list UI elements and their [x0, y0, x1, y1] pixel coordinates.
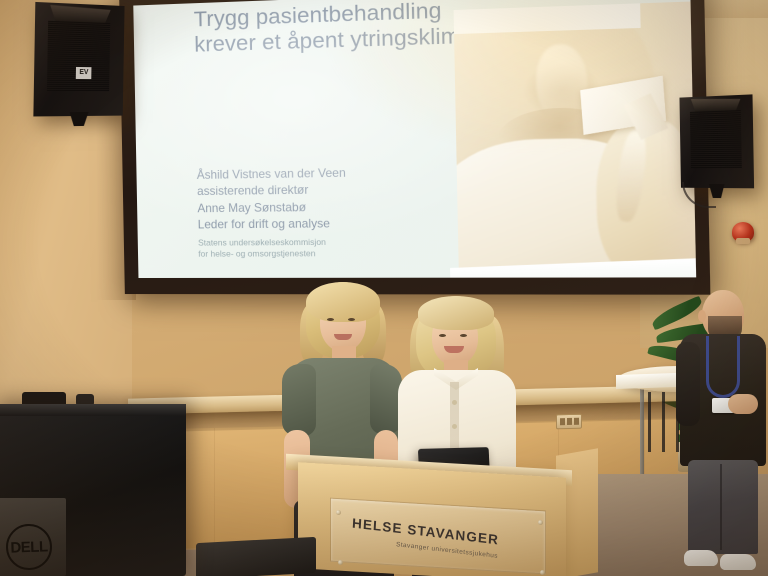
speaker-grille — [47, 21, 111, 92]
ear — [698, 310, 706, 322]
speaker-grille — [690, 110, 742, 168]
sneaker-right — [720, 554, 756, 570]
wall-speaker-right — [679, 94, 754, 188]
sneaker-left — [684, 550, 718, 566]
plaque-screw — [338, 560, 343, 565]
eye — [348, 318, 355, 321]
presentation-slide: Trygg pasientbehandling krever et åpent … — [133, 0, 696, 278]
hair-front — [306, 282, 380, 322]
eye — [460, 334, 467, 337]
keyboard[interactable] — [196, 537, 316, 576]
ev-logo-icon: EV — [76, 67, 92, 79]
slide-presenter-names: Åshild Vistnes van der Veen assisterende… — [197, 163, 471, 234]
blouse-button — [452, 424, 457, 429]
white-table-edge — [616, 373, 676, 389]
hair-front — [418, 296, 494, 330]
plaque-screw — [538, 520, 543, 525]
fire-alarm-base — [736, 238, 750, 244]
dell-monitor-top-edge — [0, 404, 186, 416]
arm-left — [676, 342, 700, 426]
wall-speaker-left: EV — [33, 2, 124, 117]
slide-organization: Statens undersøkelseskommisjon for helse… — [198, 236, 461, 261]
blouse-button — [452, 400, 457, 405]
projection-screen-surface: Trygg pasientbehandling krever et åpent … — [133, 0, 696, 278]
eye — [327, 318, 334, 321]
attendee-with-lanyard — [676, 288, 768, 576]
jeans-seam — [720, 464, 722, 550]
eye — [439, 334, 446, 337]
sleeve-left — [282, 364, 316, 436]
slide-photo: Foto: Shutterstock — [454, 1, 697, 277]
slide-title: Trygg pasientbehandling krever et åpent … — [194, 0, 479, 58]
power-outlet[interactable] — [556, 414, 582, 430]
plaque-screw — [540, 570, 545, 575]
plaque-screw — [336, 510, 341, 515]
conference-room-scene: Trygg pasientbehandling krever et åpent … — [0, 0, 768, 576]
projection-screen: Trygg pasientbehandling krever et åpent … — [119, 0, 710, 295]
hand — [728, 394, 758, 414]
jeans — [688, 460, 758, 554]
lanyard — [706, 336, 740, 398]
